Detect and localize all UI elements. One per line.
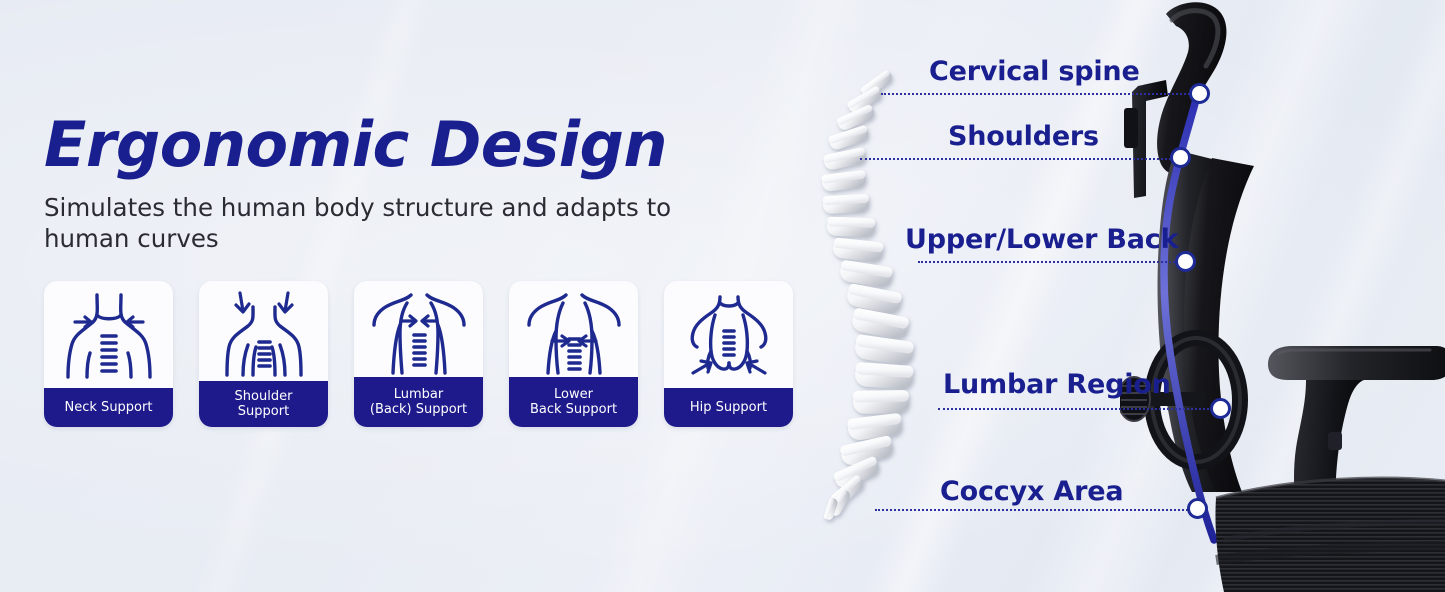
lumbar-support-icon — [354, 281, 483, 377]
feature-card-hip-support[interactable]: Hip Support — [664, 281, 793, 427]
ergonomic-office-chair-image — [1120, 0, 1445, 592]
feature-card-label: Lower Back Support — [509, 377, 638, 427]
lower-back-support-icon — [509, 281, 638, 377]
feature-card-label-line: Support — [238, 404, 289, 419]
feature-card-list: Neck Support — [44, 281, 793, 427]
lumbar-region-marker[interactable] — [1210, 398, 1231, 419]
feature-card-label: Shoulder Support — [199, 381, 328, 427]
neck-support-icon — [44, 281, 173, 388]
callout-leader-lumbar-region — [938, 408, 1213, 410]
callout-leader-shoulders — [860, 158, 1175, 160]
hip-support-icon — [664, 281, 793, 388]
cervical-spine-marker[interactable] — [1189, 83, 1210, 104]
page-title: Ergonomic Design — [44, 112, 667, 177]
feature-card-lumbar-support[interactable]: Lumbar (Back) Support — [354, 281, 483, 427]
feature-card-lower-back-support[interactable]: Lower Back Support — [509, 281, 638, 427]
coccyx-area-marker[interactable] — [1187, 498, 1208, 519]
ergonomic-design-banner: Ergonomic Design Simulates the human bod… — [0, 0, 1445, 592]
feature-card-shoulder-support[interactable]: Shoulder Support — [199, 281, 328, 427]
feature-card-label-line: Lower — [554, 387, 593, 402]
feature-card-label-line: Neck Support — [65, 400, 153, 415]
human-spine-illustration — [815, 60, 955, 534]
callout-label-cervical-spine: Cervical spine — [929, 56, 1140, 87]
feature-card-neck-support[interactable]: Neck Support — [44, 281, 173, 427]
feature-card-label: Lumbar (Back) Support — [354, 377, 483, 427]
callout-label-upper-lower-back: Upper/Lower Back — [905, 224, 1178, 255]
feature-card-label-line: (Back) Support — [370, 402, 467, 417]
upper-lower-back-marker[interactable] — [1175, 251, 1196, 272]
feature-card-label: Hip Support — [664, 388, 793, 427]
shoulder-support-icon — [199, 281, 328, 381]
callout-leader-upper-lower-back — [918, 261, 1178, 263]
feature-card-label-line: Shoulder — [235, 389, 293, 404]
shoulders-marker[interactable] — [1170, 147, 1191, 168]
callout-label-coccyx-area: Coccyx Area — [940, 476, 1123, 507]
callout-label-shoulders: Shoulders — [948, 121, 1099, 152]
feature-card-label-line: Hip Support — [690, 400, 767, 415]
page-subtitle: Simulates the human body structure and a… — [44, 192, 684, 255]
feature-card-label: Neck Support — [44, 388, 173, 427]
callout-leader-coccyx-area — [875, 509, 1188, 511]
feature-card-label-line: Lumbar — [394, 387, 443, 402]
feature-card-label-line: Back Support — [530, 402, 617, 417]
callout-leader-cervical-spine — [881, 93, 1193, 95]
callout-label-lumbar-region: Lumbar Region — [943, 369, 1171, 400]
